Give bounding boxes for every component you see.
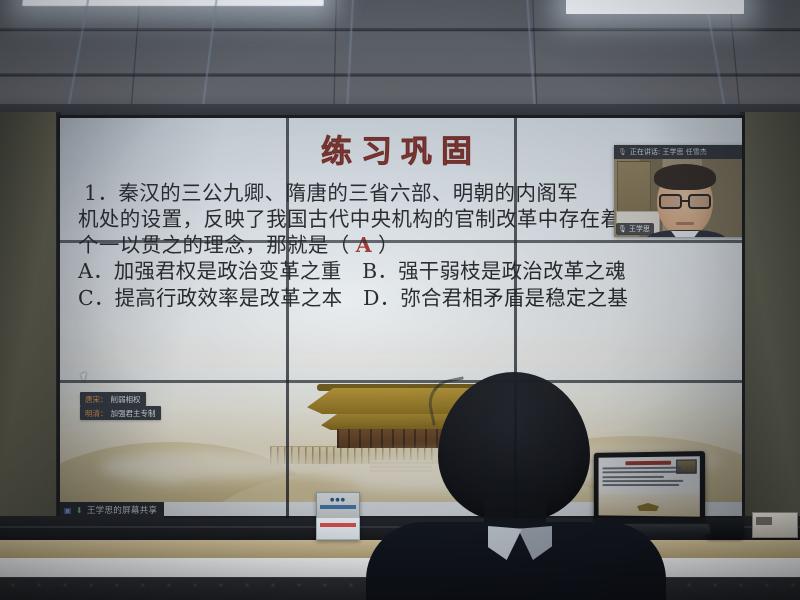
speaker-name-badge: 🎙 王学思 — [616, 223, 654, 235]
screen-share-banner: ▣ ⬇ 王学思的屏幕共享 — [60, 502, 164, 518]
question-line-3-text: 个一以贯之的理念，那就是（ — [78, 233, 350, 257]
option-row-cd: C．提高行政效率是改革之本 D．弥合君相矛盾是稳定之基 — [78, 285, 728, 312]
glasses-icon — [688, 194, 711, 209]
slide-tag-key: 明清： — [85, 409, 108, 418]
tissue-box-stripe — [320, 505, 356, 509]
video-wall-bezel-horizontal — [60, 240, 742, 243]
microphone-icon: 🎙 — [618, 225, 627, 233]
video-wall-bezel-vertical — [514, 118, 517, 518]
slide-tag-tangsong: 唐宋：削弱相权 — [80, 392, 146, 406]
tissue-box: ●●● — [316, 492, 360, 540]
screenshot-scene: 练习巩固 1．秦汉的三公九卿、隋唐的三省六部、明朝的内阁军 机处的设置，反映了我… — [0, 0, 800, 600]
video-wall-bezel-horizontal — [60, 380, 742, 383]
glasses-icon — [659, 194, 682, 209]
slide-tag-mingqing: 明清：加强君主专制 — [80, 406, 161, 420]
speaking-label: 正在讲话: 王学思 任雪杰 — [630, 147, 707, 157]
person-hair-strand — [424, 376, 472, 425]
speaker-tile-header: 🎙 正在讲话: 王学思 任雪杰 ◖◗ — [614, 145, 742, 159]
ceiling-light-panel-right — [566, 0, 744, 14]
speaker-name-label: 王学思 — [629, 224, 650, 234]
screen-share-label: 王学思的屏幕共享 — [87, 504, 157, 516]
speaker-avatar — [649, 167, 721, 237]
answer-mark: A — [350, 233, 378, 257]
video-wall-bezel-vertical — [286, 118, 289, 518]
slide-tag-text: 削弱相权 — [111, 395, 141, 404]
monitor-icon: ▣ — [64, 506, 72, 515]
small-box-label — [756, 517, 772, 525]
ceiling-seam — [0, 73, 800, 76]
share-arrow-icon: ⬇ — [76, 506, 83, 515]
speaker-mouth — [676, 222, 694, 225]
glasses-bridge — [682, 200, 689, 202]
small-box — [752, 512, 798, 538]
microphone-icon: 🎙 — [618, 148, 627, 156]
option-row-ab: A．加强君权是政治变革之重 B．强干弱枝是政治改革之魂 — [78, 258, 728, 285]
slide-tag-key: 唐宋： — [85, 395, 108, 404]
tissue-box-stripe — [320, 523, 356, 527]
speaker-video-tile[interactable]: 🎙 正在讲话: 王学思 任雪杰 ◖◗ — [614, 145, 742, 237]
speaker-hair — [654, 164, 716, 190]
ceiling-seam — [0, 28, 800, 31]
desk-phone — [706, 516, 744, 538]
answer-close-paren: ） — [378, 233, 399, 257]
speaker-video-feed: 🎙 王学思 — [614, 159, 742, 237]
speaker-collar — [671, 231, 699, 237]
ceiling-light-panel — [22, 0, 324, 6]
slide-tag-text: 加强君主专制 — [111, 409, 156, 418]
tissue-box-text: ●●● — [317, 497, 359, 503]
